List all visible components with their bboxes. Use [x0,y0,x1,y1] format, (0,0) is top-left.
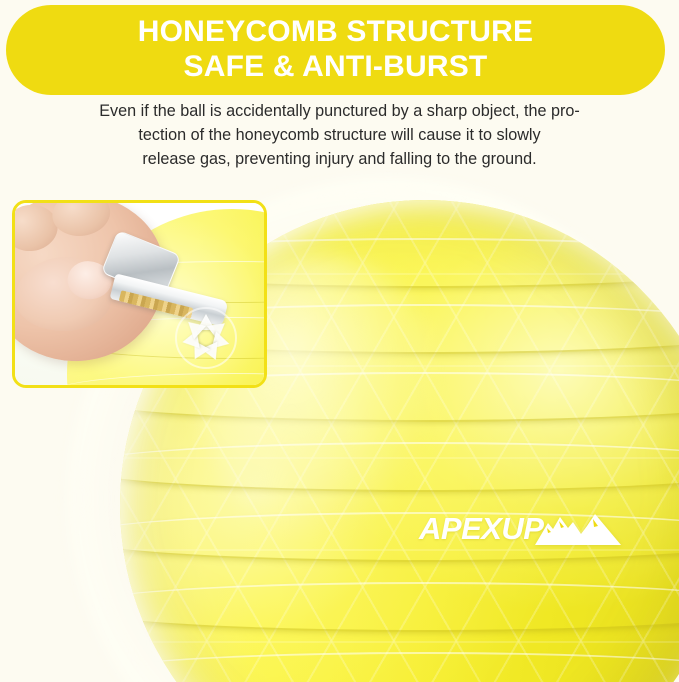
headline-line-2: SAFE & ANTI-BURST [184,50,488,85]
headline-line-1: HONEYCOMB STRUCTURE [138,15,533,50]
apexup-logo: APEXUP [419,512,621,544]
description-line-2: tection of the honeycomb structure will … [24,123,655,147]
puncture-demo-photo [12,200,267,388]
description-line-1: Even if the ball is accidentally punctur… [24,99,655,123]
mountain-range-icon [535,512,621,546]
description-line-3: release gas, preventing injury and falli… [24,147,655,171]
headline-banner: HONEYCOMB STRUCTURE SAFE & ANTI-BURST [6,5,665,95]
brand-wordmark: APEXUP [419,513,543,544]
gas-release-arrows-icon [163,295,249,381]
description-text: Even if the ball is accidentally punctur… [24,99,655,171]
product-feature-image: APEXUP HONEYCOMB STRUCTURE SAFE & ANTI-B… [0,0,679,682]
